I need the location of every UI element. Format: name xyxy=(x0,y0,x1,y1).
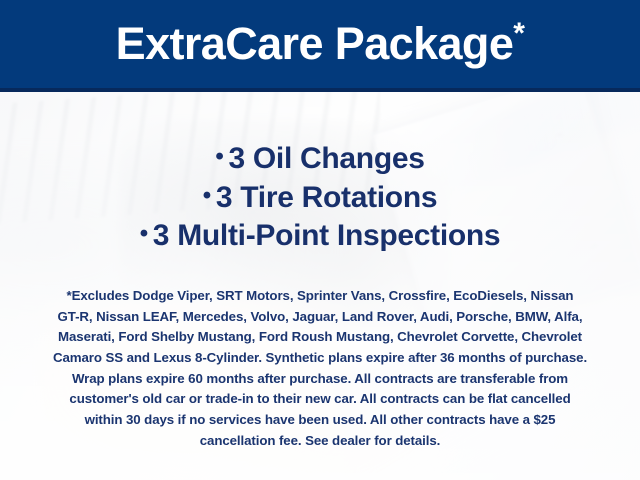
benefit-item-label: 3 Multi-Point Inspections xyxy=(153,219,501,252)
bullet-icon: • xyxy=(140,220,148,247)
header-band: ExtraCare Package* xyxy=(0,0,640,92)
benefit-item-oil-changes: •3 Oil Changes xyxy=(0,140,640,179)
page-title-asterisk: * xyxy=(513,17,524,50)
disclaimer-line: customer's old car or trade-in to their … xyxy=(26,389,614,410)
bullet-icon: • xyxy=(203,182,211,209)
benefit-item-label: 3 Tire Rotations xyxy=(216,181,437,214)
bullet-icon: • xyxy=(215,143,223,170)
disclaimer-line: Wrap plans expire 60 months after purcha… xyxy=(26,369,614,390)
disclaimer-line: *Excludes Dodge Viper, SRT Motors, Sprin… xyxy=(26,286,614,307)
benefit-item-tire-rotations: •3 Tire Rotations xyxy=(0,179,640,218)
extracare-package-promo-card: ExtraCare Package* •3 Oil Changes •3 Tir… xyxy=(0,0,640,480)
disclaimer-line: cancellation fee. See dealer for details… xyxy=(26,431,614,452)
disclaimer-line: GT-R, Nissan LEAF, Mercedes, Volvo, Jagu… xyxy=(26,307,614,328)
benefit-item-multi-point-inspections: •3 Multi-Point Inspections xyxy=(0,217,640,256)
benefit-item-label: 3 Oil Changes xyxy=(228,142,424,175)
disclaimer-text-block: *Excludes Dodge Viper, SRT Motors, Sprin… xyxy=(26,286,614,451)
page-title-text: ExtraCare Package xyxy=(116,18,514,69)
disclaimer-line: Maserati, Ford Shelby Mustang, Ford Rous… xyxy=(26,327,614,348)
benefits-list: •3 Oil Changes •3 Tire Rotations •3 Mult… xyxy=(0,140,640,256)
disclaimer-line: Camaro SS and Lexus 8-Cylinder. Syntheti… xyxy=(26,348,614,369)
page-title: ExtraCare Package* xyxy=(116,19,525,70)
disclaimer-line: within 30 days if no services have been … xyxy=(26,410,614,431)
